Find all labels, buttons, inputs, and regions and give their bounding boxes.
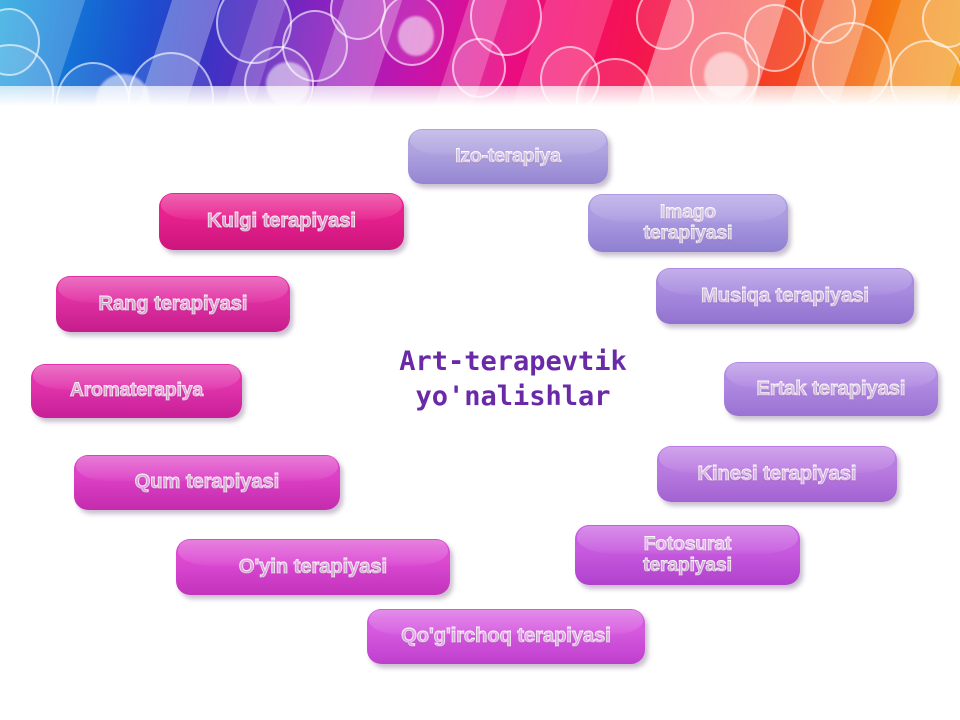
therapy-node-label: Kinesi terapiyasi [688,463,867,485]
therapy-node-label: Imago terapiyasi [634,202,743,245]
therapy-node-label: Musiqa terapiyasi [691,285,879,307]
therapy-node-oyin-terapiyasi[interactable]: O'yin terapiyasi [176,539,450,595]
therapy-node-label: Kulgi terapiyasi [197,210,366,232]
therapy-node-ertak-terapiyasi[interactable]: Ertak terapiyasi [724,362,938,416]
therapy-node-label: Rang terapiyasi [89,293,258,315]
therapy-node-label: O'yin terapiyasi [229,556,397,578]
therapy-node-label: Izo-terapiya [445,146,571,167]
therapy-node-izo-terapiya[interactable]: Izo-terapiya [408,129,608,184]
decorative-gradient-banner [0,0,960,112]
therapy-node-label: Qo'g'irchoq terapiyasi [391,625,621,647]
therapy-node-qum-terapiyasi[interactable]: Qum terapiyasi [74,455,340,510]
banner-bubble-icon [398,16,434,56]
therapy-node-musiqa-terapiyasi[interactable]: Musiqa terapiyasi [656,268,914,324]
therapy-node-aromaterapiya[interactable]: Aromaterapiya [31,364,242,418]
therapy-node-kulgi-terapiyasi[interactable]: Kulgi terapiyasi [159,193,404,250]
banner-bottom-fade [0,86,960,112]
therapy-node-label: Qum terapiyasi [125,471,290,493]
banner-circle-icon [744,4,806,72]
therapy-node-label: Aromaterapiya [60,380,213,401]
therapy-node-label: Fotosurat terapiyasi [633,534,742,577]
therapy-node-qogirchoq-terapiyasi[interactable]: Qo'g'irchoq terapiyasi [367,609,645,664]
therapy-node-kinesi-terapiyasi[interactable]: Kinesi terapiyasi [657,446,897,502]
therapy-node-fotosurat-terapiyasi[interactable]: Fotosurat terapiyasi [575,525,800,585]
page-title: Art-terapevtik yo'nalishlar [358,345,668,414]
therapy-node-label: Ertak terapiyasi [747,378,916,400]
therapy-node-imago-terapiyasi[interactable]: Imago terapiyasi [588,194,788,252]
therapy-node-rang-terapiyasi[interactable]: Rang terapiyasi [56,276,290,332]
